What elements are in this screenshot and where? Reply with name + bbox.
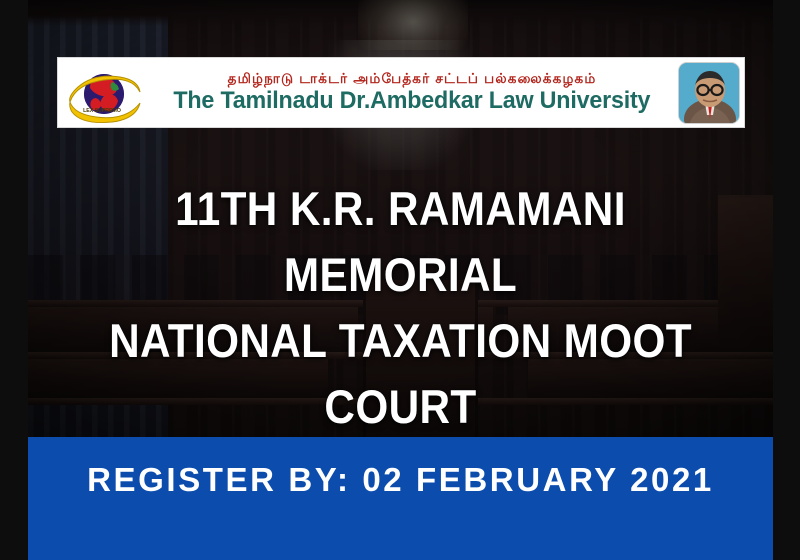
ambedkar-portrait-icon xyxy=(678,62,740,124)
svg-text:LEX SUPREMO: LEX SUPREMO xyxy=(83,108,121,114)
register-banner: Register by: 02 February 2021 xyxy=(28,437,773,560)
register-deadline-text: Register by: 02 February 2021 xyxy=(87,463,714,496)
event-title-line-1: 11th K.R. Ramamani Memorial xyxy=(65,176,736,308)
letterhead-titles: தமிழ்நாடு டாக்டர் அம்பேத்கர் சட்டப் பல்க… xyxy=(146,71,678,115)
globe-emblem-logo-icon: LEX SUPREMO xyxy=(62,60,146,126)
university-letterhead: LEX SUPREMO தமிழ்நாடு டாக்டர் அம்பேத்கர்… xyxy=(57,57,745,128)
university-name-tamil: தமிழ்நாடு டாக்டர் அம்பேத்கர் சட்டப் பல்க… xyxy=(228,71,597,88)
poster-canvas: LEX SUPREMO தமிழ்நாடு டாக்டர் அம்பேத்கர்… xyxy=(0,0,800,560)
event-title-line-2: National Taxation Moot Court xyxy=(65,308,736,440)
university-name-english: The Tamilnadu Dr.Ambedkar Law University xyxy=(174,88,651,115)
